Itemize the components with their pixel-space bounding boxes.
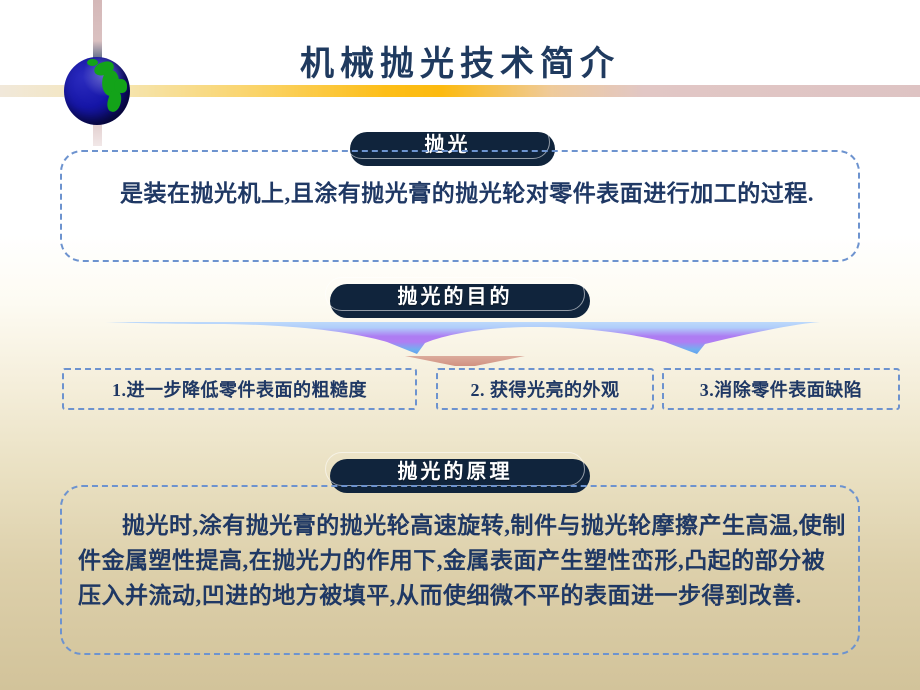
purpose-item-1-label: 1.进一步降低零件表面的粗糙度 <box>112 376 367 402</box>
banner-pill: 抛光的目的 <box>325 277 585 311</box>
purpose-item-3: 3.消除零件表面缺陷 <box>662 368 900 410</box>
purpose-item-2-label: 2. 获得光亮的外观 <box>471 376 620 402</box>
purpose-item-3-label: 3.消除零件表面缺陷 <box>700 376 863 402</box>
three-arrow-fan-decoration <box>105 316 820 366</box>
slide-canvas: 机械抛光技术简介 抛光 是装在抛光机上,且涂有抛光膏的抛光轮对零件表面进行加工的… <box>0 0 920 690</box>
purpose-item-1: 1.进一步降低零件表面的粗糙度 <box>62 368 417 410</box>
definition-text: 是装在抛光机上,且涂有抛光膏的抛光轮对零件表面进行加工的过程. <box>78 176 848 211</box>
horizontal-gold-bar <box>0 85 920 97</box>
banner-purpose-label: 抛光的目的 <box>398 280 513 309</box>
fan-shape <box>105 322 820 354</box>
principle-text: 抛光时,涂有抛光膏的抛光轮高速旋转,制件与抛光轮摩擦产生高温,使制件金属塑性提高… <box>78 508 848 613</box>
page-title: 机械抛光技术简介 <box>0 36 920 85</box>
banner-pill: 抛光的原理 <box>325 452 585 486</box>
purpose-item-2: 2. 获得光亮的外观 <box>436 368 654 410</box>
center-arrow-shape <box>405 356 525 366</box>
banner-principle-label: 抛光的原理 <box>398 455 513 484</box>
